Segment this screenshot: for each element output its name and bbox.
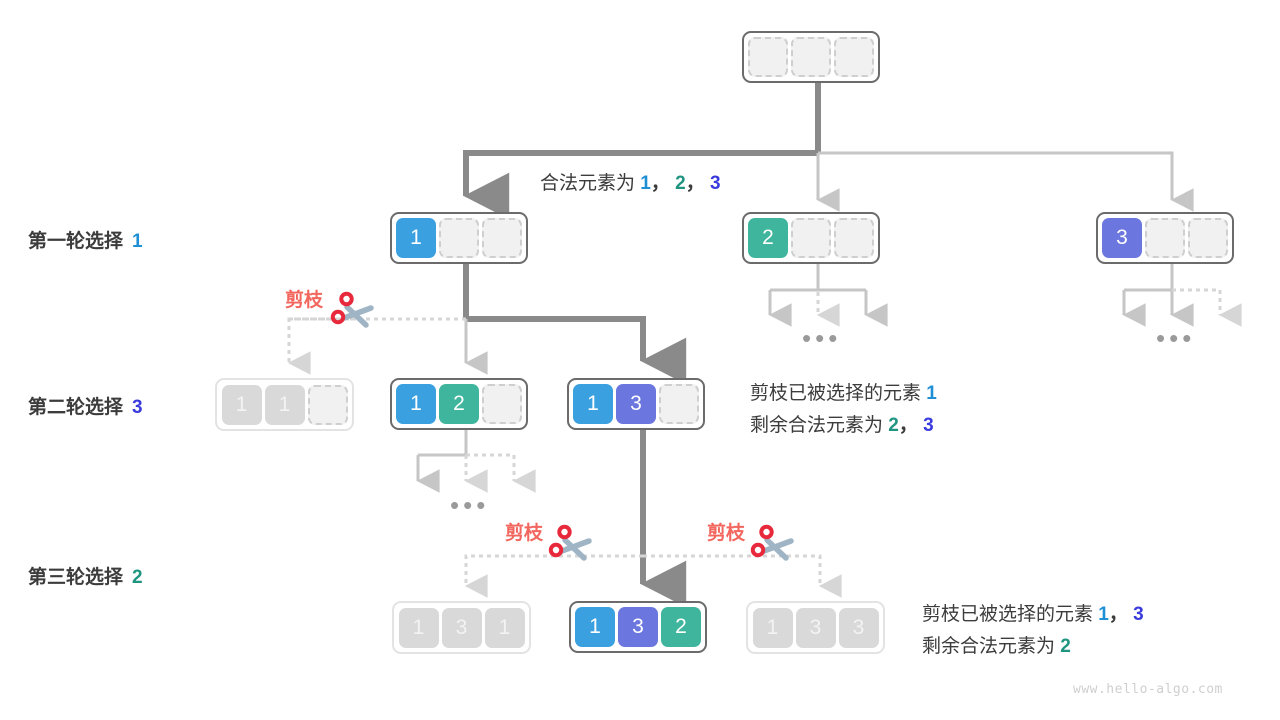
ellipsis-3: ••• (450, 492, 489, 518)
separator: ， (899, 415, 918, 436)
cell (748, 37, 788, 77)
cell (659, 384, 699, 424)
cell: 3 (618, 607, 658, 647)
cell (791, 218, 831, 258)
cell: 1 (222, 385, 262, 425)
note-level1: 合法元素为 1， 2， 3 (540, 168, 721, 195)
note-level2-line2-value-1: 2 (888, 415, 899, 436)
node-level2-选2[interactable]: 1 2 (390, 378, 528, 430)
cell: 2 (748, 218, 788, 258)
prune-label-2: 剪枝 (505, 518, 543, 545)
cell: 1 (396, 384, 436, 424)
node-level3-pruned-left[interactable]: 1 3 1 (392, 601, 531, 654)
scissors-icon (548, 523, 594, 563)
cell (791, 37, 831, 77)
node-level2-选3[interactable]: 1 3 (567, 378, 705, 430)
node-level1-选1[interactable]: 1 (390, 212, 528, 264)
note-level3-line1-prefix: 剪枝已被选择的元素 (922, 604, 1093, 625)
row-label-2: 第二轮选择3 (28, 392, 143, 419)
note-level2-line2: 剩余合法元素为 2， 3 (750, 410, 934, 437)
note-level3-line2-value-1: 2 (1060, 636, 1071, 657)
note-level1-value-3: 3 (710, 173, 721, 194)
cell: 3 (616, 384, 656, 424)
prune-label-3: 剪枝 (707, 518, 745, 545)
prune-label-1: 剪枝 (285, 285, 323, 312)
node-level3-pruned-right[interactable]: 1 3 3 (746, 601, 885, 654)
ellipsis-1: ••• (802, 325, 841, 351)
note-level3-line2: 剩余合法元素为 2 (922, 631, 1071, 658)
cell (1188, 218, 1228, 258)
node-level2-pruned[interactable]: 1 1 (215, 378, 354, 431)
cell: 3 (442, 608, 482, 648)
cell: 1 (265, 385, 305, 425)
node-level3-选2[interactable]: 1 3 2 (569, 601, 707, 653)
cell: 2 (661, 607, 701, 647)
row-label-3: 第三轮选择2 (28, 562, 143, 589)
cell: 1 (573, 384, 613, 424)
node-root[interactable] (742, 31, 880, 83)
cell: 3 (1102, 218, 1142, 258)
cell (308, 385, 348, 425)
cell (482, 384, 522, 424)
cell: 2 (439, 384, 479, 424)
cell: 1 (575, 607, 615, 647)
note-level1-prefix: 合法元素为 (540, 173, 635, 194)
row-label-1-value: 1 (132, 231, 143, 252)
scissors-icon (330, 290, 376, 330)
note-level2-line1-value-1: 1 (926, 383, 937, 404)
separator: ， (651, 173, 670, 194)
cell (1145, 218, 1185, 258)
cell: 1 (396, 218, 436, 258)
row-label-3-value: 2 (132, 567, 143, 588)
watermark: www.hello-algo.com (1073, 682, 1223, 697)
cell (834, 37, 874, 77)
node-level1-选2[interactable]: 2 (742, 212, 880, 264)
note-level1-value-2: 2 (675, 173, 686, 194)
cell (482, 218, 522, 258)
ellipsis-2: ••• (1156, 325, 1195, 351)
separator: ， (686, 173, 705, 194)
row-label-1: 第一轮选择1 (28, 226, 143, 253)
note-level2-line1: 剪枝已被选择的元素 1 (750, 378, 937, 405)
cell: 3 (796, 608, 836, 648)
separator: ， (1109, 604, 1128, 625)
scissors-icon (750, 523, 796, 563)
cell (834, 218, 874, 258)
cell: 3 (839, 608, 879, 648)
note-level3-line2-prefix: 剩余合法元素为 (922, 636, 1055, 657)
note-level3-line1: 剪枝已被选择的元素 1， 3 (922, 599, 1144, 626)
row-label-2-value: 3 (132, 397, 143, 418)
cell: 1 (753, 608, 793, 648)
node-level1-选3[interactable]: 3 (1096, 212, 1234, 264)
cell: 1 (399, 608, 439, 648)
row-label-3-text: 第三轮选择 (28, 567, 123, 588)
cell (439, 218, 479, 258)
note-level2-line2-prefix: 剩余合法元素为 (750, 415, 883, 436)
note-level1-value-1: 1 (640, 173, 651, 194)
diagram-canvas: 1 2 3 1 1 1 2 1 3 1 3 1 1 3 2 1 3 (0, 0, 1280, 720)
note-level2-line1-prefix: 剪枝已被选择的元素 (750, 383, 921, 404)
cell: 1 (485, 608, 525, 648)
row-label-1-text: 第一轮选择 (28, 231, 123, 252)
row-label-2-text: 第二轮选择 (28, 397, 123, 418)
note-level3-line1-value-1: 1 (1098, 604, 1109, 625)
note-level2-line2-value-2: 3 (923, 415, 934, 436)
note-level3-line1-value-2: 3 (1133, 604, 1144, 625)
